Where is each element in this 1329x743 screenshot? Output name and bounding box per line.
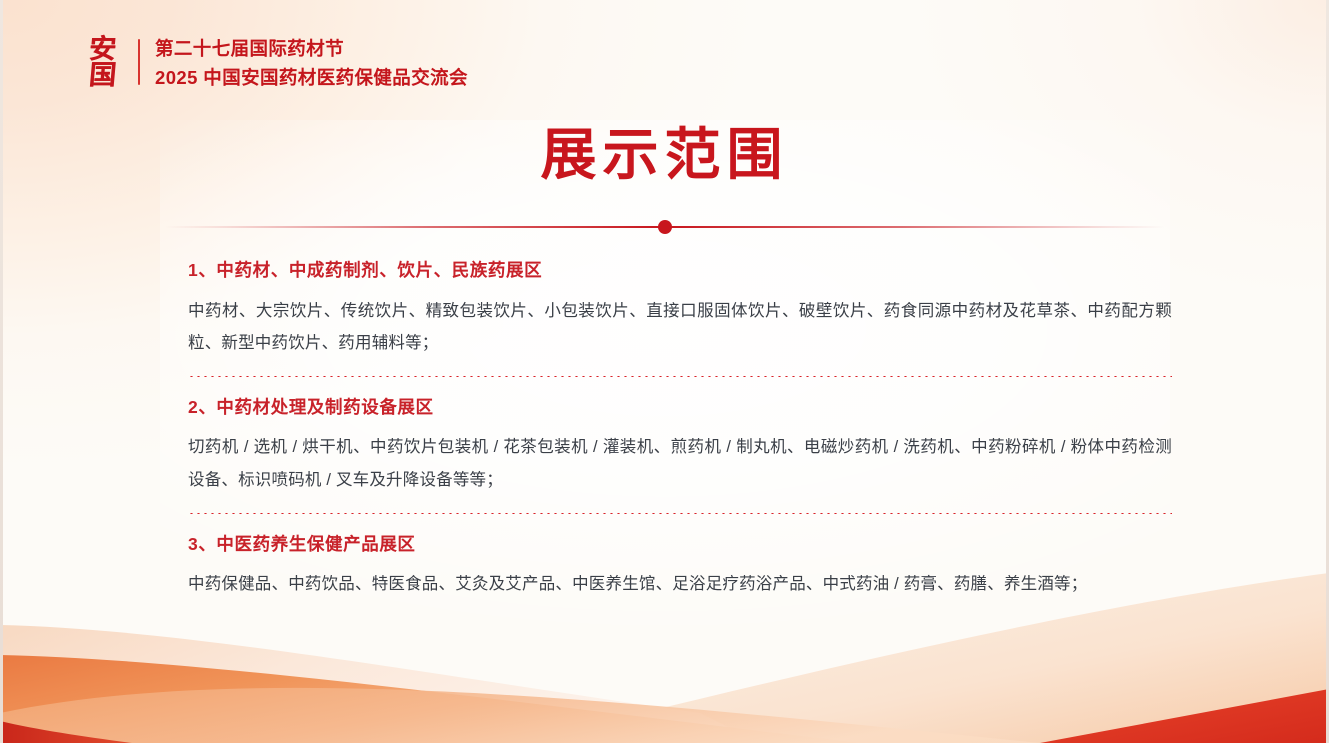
header-line-1: 第二十七届国际药材节 [155, 35, 468, 61]
section-3-body: 中药保健品、中药饮品、特医食品、艾灸及艾产品、中医养生馆、足浴足疗药浴产品、中式… [188, 568, 1172, 600]
anguo-seal-logo: 安 国 [80, 33, 124, 91]
section-1-body: 中药材、大宗饮片、传统饮片、精致包装饮片、小包装饮片、直接口服固体饮片、破壁饮片… [188, 295, 1172, 359]
section-divider-1 [188, 376, 1172, 377]
section-2-body: 切药机 / 选机 / 烘干机、中药饮片包装机 / 花茶包装机 / 灌装机、煎药机… [188, 431, 1172, 495]
logo-char-guo: 国 [87, 62, 116, 88]
section-3-heading: 3、中医药养生保健产品展区 [188, 532, 1172, 557]
header-text-block: 第二十七届国际药材节 2025 中国安国药材医药保健品交流会 [155, 35, 468, 90]
slide-exhibition-scope: 安 国 第二十七届国际药材节 2025 中国安国药材医药保健品交流会 展示范围 … [0, 0, 1329, 743]
header-line-2: 2025 中国安国药材医药保健品交流会 [155, 64, 468, 90]
section-3: 3、中医药养生保健产品展区 中药保健品、中药饮品、特医食品、艾灸及艾产品、中医养… [188, 532, 1172, 601]
title-divider-dot [658, 220, 672, 234]
section-2: 2、中药材处理及制药设备展区 切药机 / 选机 / 烘干机、中药饮片包装机 / … [188, 395, 1172, 496]
section-2-heading: 2、中药材处理及制药设备展区 [188, 395, 1172, 420]
page-edge-left [0, 0, 3, 743]
section-1: 1、中药材、中成药制剂、饮片、民族药展区 中药材、大宗饮片、传统饮片、精致包装饮… [188, 258, 1172, 359]
content-sections: 1、中药材、中成药制剂、饮片、民族药展区 中药材、大宗饮片、传统饮片、精致包装饮… [188, 258, 1172, 600]
title-divider [165, 220, 1165, 234]
section-1-heading: 1、中药材、中成药制剂、饮片、民族药展区 [188, 258, 1172, 283]
logo-char-an: 安 [87, 36, 116, 62]
page-title: 展示范围 [0, 126, 1329, 188]
header-vertical-divider [138, 39, 140, 85]
header: 安 国 第二十七届国际药材节 2025 中国安国药材医药保健品交流会 [80, 33, 468, 91]
section-divider-2 [188, 513, 1172, 514]
